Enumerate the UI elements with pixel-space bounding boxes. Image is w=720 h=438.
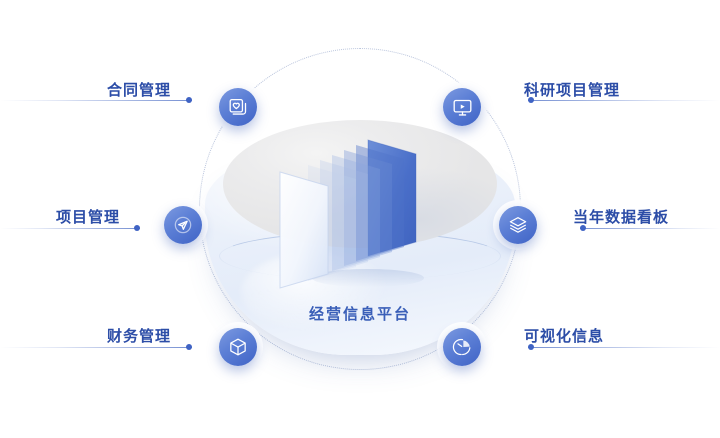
- node-label-dashboard[interactable]: 当年数据看板: [573, 206, 669, 227]
- cards-heart-icon: [228, 97, 249, 118]
- connector-line-project: [0, 228, 140, 229]
- connector-line-visualization: [528, 347, 720, 348]
- pie-chart-icon: [452, 337, 472, 357]
- node-icon-finance[interactable]: [219, 328, 257, 366]
- node-label-visualization[interactable]: 可视化信息: [524, 325, 604, 346]
- connector-line-contract: [0, 100, 192, 101]
- node-icon-contract[interactable]: [219, 88, 257, 126]
- node-icon-dashboard[interactable]: [499, 206, 537, 244]
- paper-plane-icon: [173, 215, 193, 235]
- diagram-canvas: 合同管理 科研项目管理 项目管理: [0, 0, 720, 438]
- platform-caption: 经营信息平台: [0, 303, 720, 324]
- stacked-panels-illustration: [276, 132, 456, 297]
- node-label-finance[interactable]: 财务管理: [107, 325, 171, 346]
- node-label-project[interactable]: 项目管理: [56, 206, 120, 227]
- cube-icon: [228, 337, 248, 357]
- connector-line-research: [528, 100, 720, 101]
- monitor-play-icon: [452, 97, 473, 118]
- node-label-contract[interactable]: 合同管理: [107, 79, 171, 100]
- node-icon-project[interactable]: [164, 206, 202, 244]
- connector-dot-project: [134, 225, 140, 231]
- node-label-research[interactable]: 科研项目管理: [524, 79, 620, 100]
- connector-line-finance: [0, 347, 192, 348]
- node-icon-research[interactable]: [443, 88, 481, 126]
- node-icon-visualization[interactable]: [443, 328, 481, 366]
- connector-dot-contract: [186, 97, 192, 103]
- connector-dot-finance: [186, 344, 192, 350]
- connector-line-dashboard: [580, 228, 720, 229]
- layers-icon: [508, 215, 528, 235]
